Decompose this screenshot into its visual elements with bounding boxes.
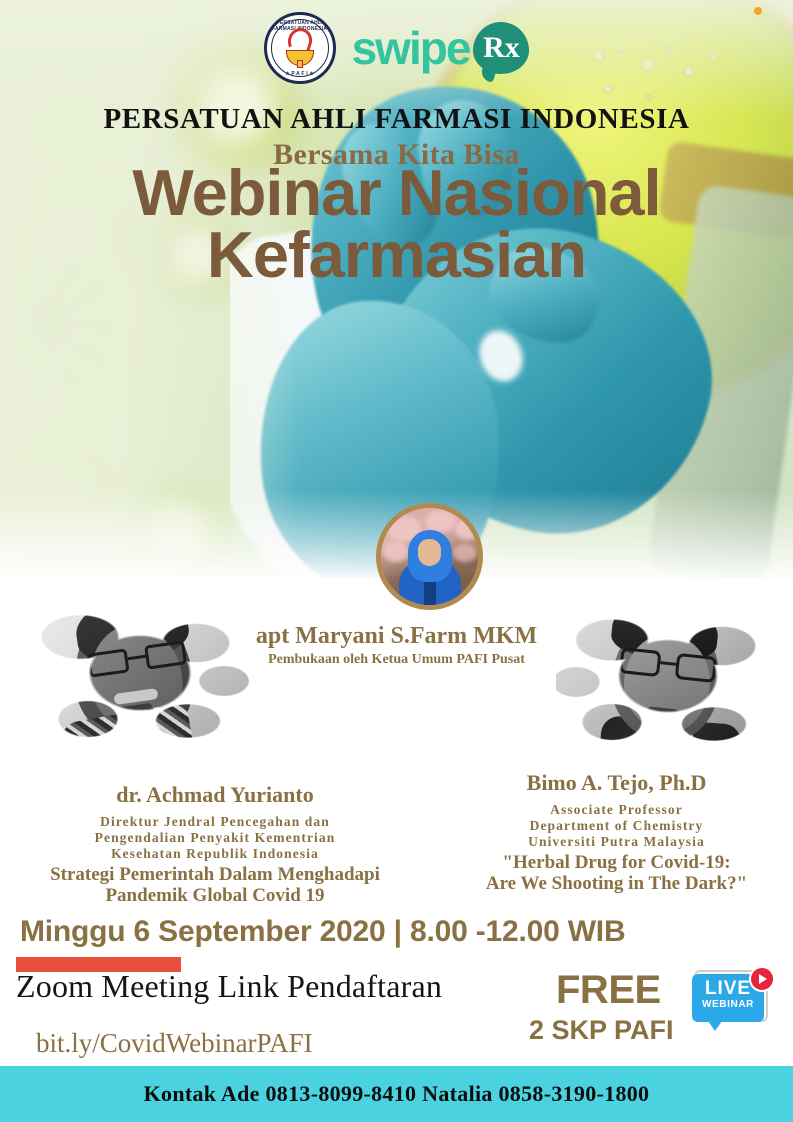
speaker-affiliation-line: Department of Chemistry (440, 818, 793, 834)
speaker-topic-line: Are We Shooting in The Dark?" (440, 873, 793, 894)
speaker-topic: Strategi Pemerintah Dalam Menghadapi Pan… (0, 864, 430, 907)
swipe-wordmark: swipe (352, 25, 470, 71)
live-webinar-badge: LIVE WEBINAR (692, 968, 774, 1034)
speaker-affiliation: Direktur Jendral Pencegahan dan Pengenda… (0, 814, 430, 862)
speaker-topic-line: Pandemik Global Covid 19 (0, 885, 430, 906)
rx-bubble-icon: Rx (473, 22, 529, 74)
main-title-line2: Kefarmasian (0, 224, 793, 286)
speaker-photo-bimo-a-tejo (556, 590, 781, 765)
rx-label: Rx (483, 33, 520, 63)
speaker-topic-line: Strategi Pemerintah Dalam Menghadapi (0, 864, 430, 885)
contact-bar: Kontak Ade 0813-8099-8410 Natalia 0858-3… (0, 1066, 793, 1122)
logo-row: PERSATUAN AHLI FARMASI INDONESIA ★ P A F… (0, 8, 793, 88)
speaker-affiliation-line: Associate Professor (440, 802, 793, 818)
speaker-affiliation: Associate Professor Department of Chemis… (440, 802, 793, 850)
swipe-dot-icon (754, 7, 762, 15)
speaker-photo-achmad-yurianto (28, 585, 258, 765)
pafi-logo-icon: PERSATUAN AHLI FARMASI INDONESIA ★ P A F… (264, 12, 336, 84)
play-icon (749, 966, 775, 992)
speaker-info-bimo-a-tejo: Bimo A. Tejo, Ph.D Associate Professor D… (440, 770, 793, 894)
contact-text: Kontak Ade 0813-8099-8410 Natalia 0858-3… (144, 1081, 650, 1107)
registration-link[interactable]: bit.ly/CovidWebinarPAFI (36, 1028, 313, 1059)
swiperx-logo: swipe Rx (352, 22, 530, 74)
credits-label: 2 SKP PAFI (529, 1015, 674, 1046)
speaker-name: Bimo A. Tejo, Ph.D (440, 770, 793, 796)
event-datetime: Minggu 6 September 2020 | 8.00 -12.00 WI… (20, 915, 625, 949)
speaker-affiliation-line: Universiti Putra Malaysia (440, 834, 793, 850)
speaker-topic-line: "Herbal Drug for Covid-19: (440, 852, 793, 873)
page-title: Webinar Nasional Kefarmasian (0, 162, 793, 287)
price-label: FREE (556, 968, 661, 1013)
host-avatar (376, 503, 483, 610)
organization-title: PERSATUAN AHLI FARMASI INDONESIA (0, 103, 793, 136)
live-badge-line2: WEBINAR (692, 1000, 764, 1010)
pafi-ring-text-bottom: ★ P A F I ★ (267, 71, 333, 77)
speaker-affiliation-line: Direktur Jendral Pencegahan dan (0, 814, 430, 830)
speaker-topic: "Herbal Drug for Covid-19: Are We Shooti… (440, 852, 793, 895)
webinar-poster: PERSATUAN AHLI FARMASI INDONESIA ★ P A F… (0, 0, 793, 1122)
speaker-name: dr. Achmad Yurianto (0, 782, 430, 808)
registration-label: Zoom Meeting Link Pendaftaran (16, 968, 442, 1005)
hygieia-bowl-icon (280, 28, 320, 68)
speaker-affiliation-line: Pengendalian Penyakit Kementrian (0, 830, 430, 846)
speaker-info-achmad-yurianto: dr. Achmad Yurianto Direktur Jendral Pen… (0, 782, 430, 906)
speaker-affiliation-line: Kesehatan Republik Indonesia (0, 846, 430, 862)
